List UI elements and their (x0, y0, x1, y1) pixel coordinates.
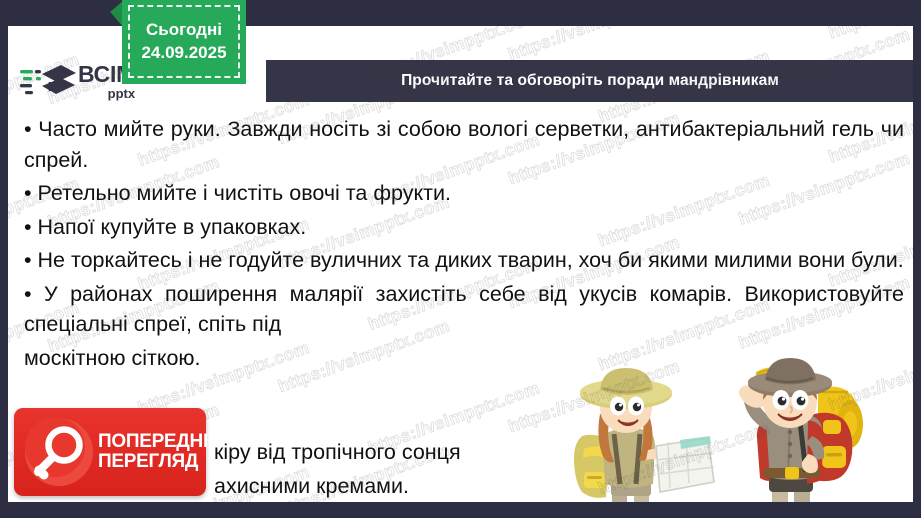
body-text-block: • Часто мийте руки. Завжди носіть зі соб… (24, 114, 904, 376)
watermark-text: https://vsimpptx.com (506, 26, 683, 64)
graduation-cap-icon (20, 60, 76, 102)
header-bar: Прочитайте та обговоріть поради мандрівн… (266, 60, 913, 102)
bullet-paragraph-3: • Напої купуйте в упаковках. (24, 212, 904, 243)
bullet-paragraph-5: • У районах поширення малярії захистіть … (24, 279, 904, 340)
boy-hiker-waving (739, 358, 863, 502)
vsim-pptx-logo: ВСІМ pptx (20, 56, 138, 106)
bullet-paragraph-4: • Не торкайтесь і не годуйте вуличних та… (24, 245, 904, 276)
bullet-paragraph-2: • Ретельно мийте і чистіть овочі та фрук… (24, 178, 904, 209)
preview-line-2: ПЕРЕГЛЯД (98, 452, 221, 472)
bullet-paragraph-1: • Часто мийте руки. Завжди носіть зі соб… (24, 114, 904, 175)
watermark-text: https://vsimpptx.com (826, 26, 913, 42)
slide-frame: Прочитайте та обговоріть поради мандрівн… (0, 0, 921, 518)
paper-map (656, 436, 714, 492)
preview-badge[interactable]: ПОПЕРЕДНІЙ ПЕРЕГЛЯД (14, 408, 206, 496)
badge-fold-decoration (100, 0, 124, 28)
magnifier-icon (22, 415, 96, 489)
logo-subtitle: pptx (78, 87, 135, 100)
header-title: Прочитайте та обговоріть поради мандрівн… (401, 72, 779, 90)
two-young-hikers-illustration (560, 354, 890, 502)
girl-hiker-with-map (574, 368, 714, 502)
today-label: Сьогодні (146, 21, 222, 40)
preview-badge-text: ПОПЕРЕДНІЙ ПЕРЕГЛЯД (98, 432, 221, 472)
today-date: 24.09.2025 (141, 44, 226, 63)
preview-line-1: ПОПЕРЕДНІЙ (98, 432, 221, 452)
today-date-badge: Сьогодні 24.09.2025 (122, 0, 246, 84)
